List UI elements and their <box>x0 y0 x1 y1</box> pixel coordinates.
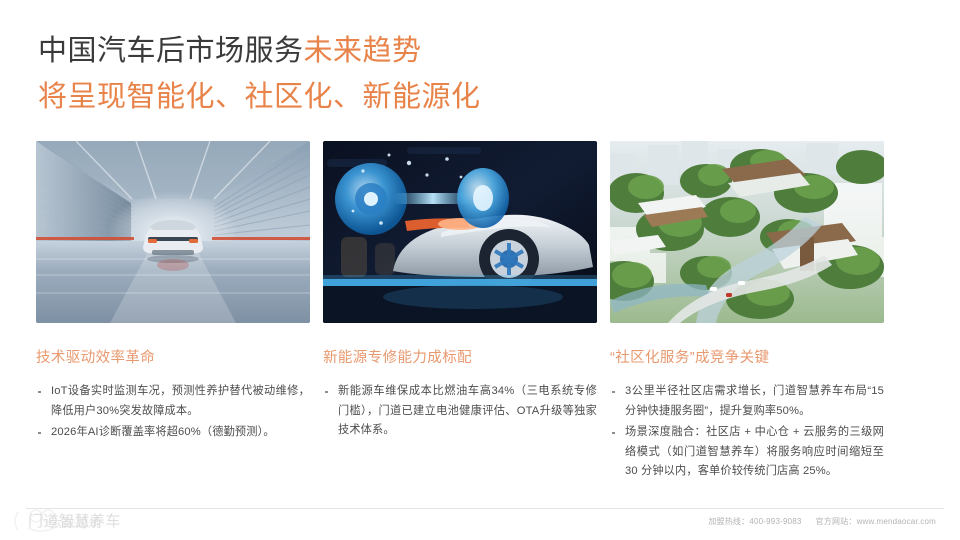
list-item: 3公里半径社区店需求增长，门道智慧养车布局“15分钟快捷服务圈”，提升复购率50… <box>610 382 884 421</box>
title-line-2: 将呈现智能化、社区化、新能源化 <box>38 78 738 116</box>
page-title: 中国汽车后市场服务未来趋势 将呈现智能化、社区化、新能源化 <box>38 32 738 116</box>
title-line-1-accent: 未来趋势 <box>304 35 422 67</box>
hotline-label: 加盟热线： <box>708 517 749 526</box>
column-1-heading: 技术驱动效率革命 <box>36 348 310 368</box>
title-line-1-dark: 中国汽车后市场服务 <box>38 35 304 67</box>
content-column-3: “社区化服务”成竞争关键 3公里半径社区店需求增长，门道智慧养车布局“15分钟快… <box>610 141 884 484</box>
title-line-1: 中国汽车后市场服务未来趋势 <box>38 32 738 70</box>
website-label: 官方网站： <box>816 517 857 526</box>
website-value[interactable]: www.mendaocar.com <box>857 517 936 526</box>
column-1-bullets: IoT设备实时监测车况，预测性养护替代被动维修，降低用户30%突发故障成本。 2… <box>36 382 310 443</box>
slide-root: 中国汽车后市场服务未来趋势 将呈现智能化、社区化、新能源化 <box>0 0 960 540</box>
content-columns: 技术驱动效率革命 IoT设备实时监测车况，预测性养护替代被动维修，降低用户30%… <box>0 141 960 481</box>
watermark-text: 六数跨境 <box>50 516 102 531</box>
tunnel-car-image <box>36 141 310 323</box>
list-item: 场景深度融合：社区店 + 中心仓 + 云服务的三级网络模式（如门道智慧养车）将服… <box>610 423 884 482</box>
hotline-value: 400-993-9083 <box>749 517 801 526</box>
list-item: 新能源车维保成本比燃油车高34%（三电系统专修门槛），门道已建立电池健康评估、O… <box>323 382 597 441</box>
column-3-bullets: 3公里半径社区店需求增长，门道智慧养车布局“15分钟快捷服务圈”，提升复购率50… <box>610 382 884 482</box>
column-2-bullets: 新能源车维保成本比燃油车高34%（三电系统专修门槛），门道已建立电池健康评估、O… <box>323 382 597 441</box>
list-item: 2026年AI诊断覆盖率将超60%（德勤预测）。 <box>36 423 310 443</box>
content-column-2: 新能源专修能力成标配 新能源车维保成本比燃油车高34%（三电系统专修门槛），门道… <box>323 141 597 443</box>
content-column-1: 技术驱动效率革命 IoT设备实时监测车况，预测性养护替代被动维修，降低用户30%… <box>36 141 310 445</box>
column-3-heading: “社区化服务”成竞争关键 <box>610 348 884 368</box>
eco-community-image <box>610 141 884 323</box>
ev-charging-image <box>323 141 597 323</box>
list-item: IoT设备实时监测车况，预测性养护替代被动维修，降低用户30%突发故障成本。 <box>36 382 310 421</box>
column-2-heading: 新能源专修能力成标配 <box>323 348 597 368</box>
footer-contact: 加盟热线：400-993-9083官方网站：www.mendaocar.com <box>708 516 936 528</box>
